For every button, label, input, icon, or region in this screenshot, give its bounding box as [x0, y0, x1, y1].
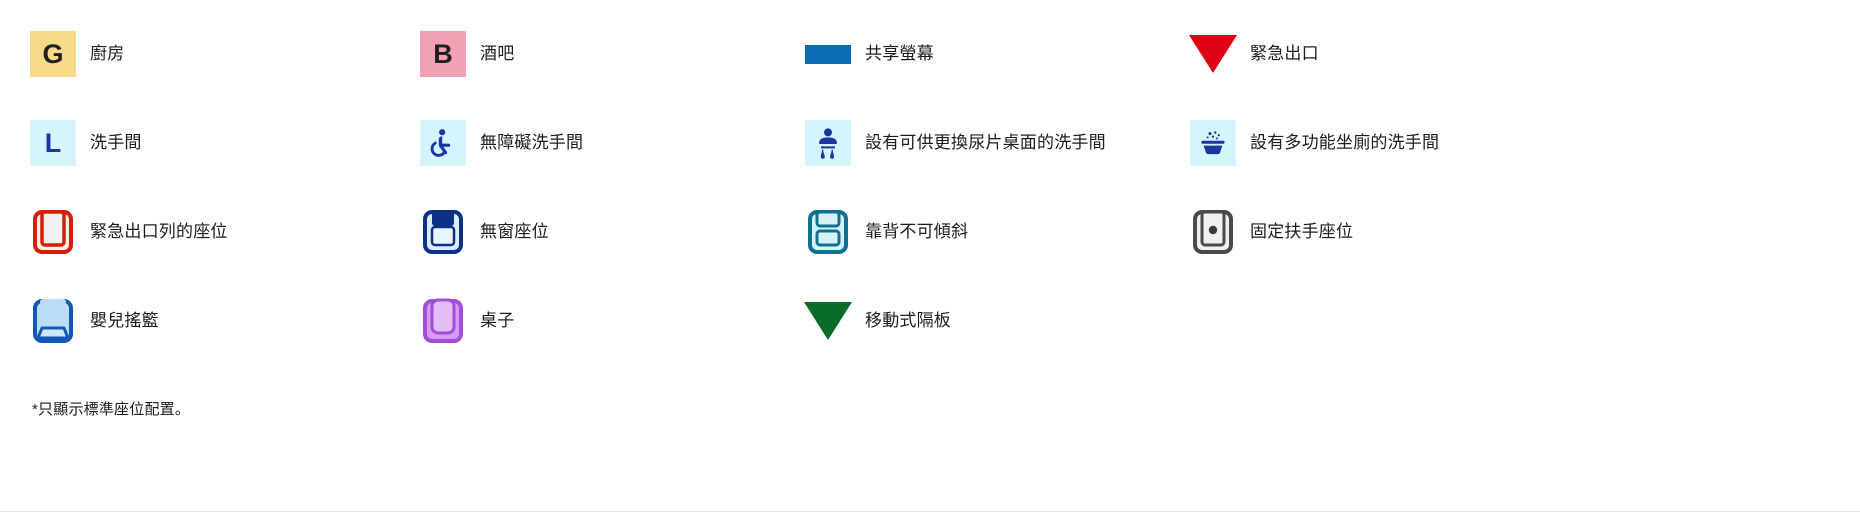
shared-screen-icon — [805, 31, 851, 77]
legend-item-lavatory[interactable]: L 洗手間 — [30, 115, 420, 171]
legend-item-table[interactable]: 桌子 — [420, 293, 805, 349]
lavatory-tile-letter: L — [30, 120, 76, 166]
lavatory-letter-icon: L — [30, 120, 76, 166]
wheelchair-tile — [420, 120, 466, 166]
legend-label-exit-row-seat: 緊急出口列的座位 — [90, 221, 228, 243]
legend-label-no-recline-seat: 靠背不可傾斜 — [865, 221, 968, 243]
bar-letter-icon: B — [420, 31, 466, 77]
legend-item-fixed-armrest-seat[interactable]: 固定扶手座位 — [1190, 204, 1580, 260]
legend-label-multifunction-lavatory: 設有多功能坐廁的洗手間 — [1250, 132, 1439, 154]
seat-exit-row-icon — [30, 209, 76, 255]
shared-screen-bar — [805, 45, 851, 64]
legend-item-no-window-seat[interactable]: 無窗座位 — [420, 204, 805, 260]
washlet-tile — [1190, 120, 1236, 166]
seat-no-window-icon — [420, 209, 466, 255]
legend-item-emergency-exit[interactable]: 緊急出口 — [1190, 26, 1580, 82]
seat-bassinet-icon — [30, 298, 76, 344]
emergency-exit-triangle — [1189, 35, 1237, 73]
washlet-icon — [1190, 120, 1236, 166]
legend-item-accessible-lavatory[interactable]: 無障礙洗手間 — [420, 115, 805, 171]
legend-label-no-window-seat: 無窗座位 — [480, 221, 549, 243]
legend-label-bar: 酒吧 — [480, 43, 514, 65]
galley-letter-icon: G — [30, 31, 76, 77]
legend-item-shared-screen[interactable]: 共享螢幕 — [805, 26, 1190, 82]
legend-label-fixed-armrest-seat: 固定扶手座位 — [1250, 221, 1353, 243]
movable-divider-icon — [805, 298, 851, 344]
wheelchair-icon — [420, 120, 466, 166]
legend-item-no-recline-seat[interactable]: 靠背不可傾斜 — [805, 204, 1190, 260]
table-icon — [420, 298, 466, 344]
legend-item-bar[interactable]: B 酒吧 — [420, 26, 805, 82]
seat-map-legend-panel: G 廚房 B 酒吧 共享螢幕 緊急出口 L 洗手 — [0, 0, 1860, 512]
legend-label-table: 桌子 — [480, 310, 514, 332]
legend-label-emergency-exit: 緊急出口 — [1250, 43, 1319, 65]
legend-label-shared-screen: 共享螢幕 — [865, 43, 934, 65]
emergency-exit-triangle-icon — [1190, 31, 1236, 77]
legend-label-bassinet: 嬰兒搖籃 — [90, 310, 159, 332]
legend-item-bassinet[interactable]: 嬰兒搖籃 — [30, 293, 420, 349]
legend-item-multifunction-lavatory[interactable]: 設有多功能坐廁的洗手間 — [1190, 115, 1580, 171]
legend-label-baby-change-lavatory: 設有可供更換尿片桌面的洗手間 — [865, 132, 1106, 154]
bar-tile-letter: B — [420, 31, 466, 77]
baby-changing-icon — [805, 120, 851, 166]
seat-fixed-armrest-icon — [1190, 209, 1236, 255]
legend-item-baby-change-lavatory[interactable]: 設有可供更換尿片桌面的洗手間 — [805, 115, 1190, 171]
legend-grid: G 廚房 B 酒吧 共享螢幕 緊急出口 L 洗手 — [0, 26, 1860, 382]
legend-label-accessible-lavatory: 無障礙洗手間 — [480, 132, 583, 154]
galley-tile-letter: G — [30, 31, 76, 77]
baby-changing-tile — [805, 120, 851, 166]
legend-item-exit-row-seat[interactable]: 緊急出口列的座位 — [30, 204, 420, 260]
movable-divider-triangle — [804, 302, 852, 340]
legend-item-movable-divider[interactable]: 移動式隔板 — [805, 293, 1190, 349]
legend-label-galley: 廚房 — [90, 43, 124, 65]
legend-label-movable-divider: 移動式隔板 — [865, 310, 951, 332]
legend-footnote: *只顯示標準座位配置。 — [32, 398, 190, 419]
seat-no-recline-icon — [805, 209, 851, 255]
legend-label-lavatory: 洗手間 — [90, 132, 142, 154]
legend-item-galley[interactable]: G 廚房 — [30, 26, 420, 82]
